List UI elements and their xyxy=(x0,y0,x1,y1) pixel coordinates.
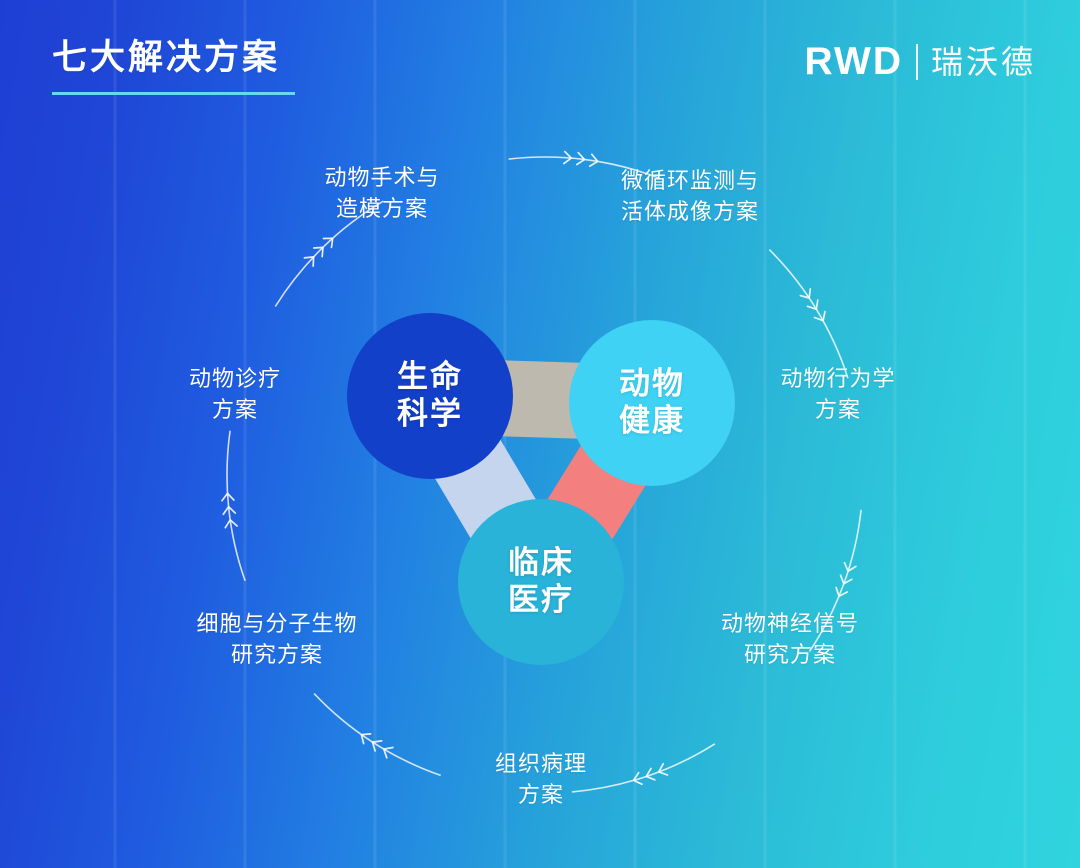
ring-label-line2: 研究方案 xyxy=(147,639,407,670)
ring-label-line1: 动物手术与 xyxy=(252,162,512,193)
cycle-diagram: 生命 科学动物 健康临床 医疗动物手术与造模方案微循环监测与活体成像方案动物行为… xyxy=(0,0,1080,868)
slide-root: 七大解决方案 RWD 瑞沃德 生命 科学动物 健康临床 医疗动物手术与造模方案微… xyxy=(0,0,1080,868)
ring-label-line1: 动物诊疗 xyxy=(105,363,365,394)
ring-label-line2: 方案 xyxy=(411,779,671,810)
ring-label-animal-surgery[interactable]: 动物手术与造模方案 xyxy=(252,162,512,224)
ring-label-microcirculation[interactable]: 微循环监测与活体成像方案 xyxy=(560,165,820,227)
ring-label-histopathology[interactable]: 组织病理方案 xyxy=(411,748,671,810)
center-nodes-layer xyxy=(0,0,1080,868)
ring-label-line1: 动物行为学 xyxy=(708,363,968,394)
ring-label-line2: 研究方案 xyxy=(660,639,920,670)
ring-label-animal-diagnosis[interactable]: 动物诊疗方案 xyxy=(105,363,365,425)
ring-label-line1: 动物神经信号 xyxy=(660,608,920,639)
ring-label-line2: 方案 xyxy=(105,394,365,425)
ring-label-neural-signal[interactable]: 动物神经信号研究方案 xyxy=(660,608,920,670)
ring-label-animal-behavior[interactable]: 动物行为学方案 xyxy=(708,363,968,425)
ring-label-line2: 造模方案 xyxy=(252,193,512,224)
ring-label-line1: 微循环监测与 xyxy=(560,165,820,196)
node-clinical-med[interactable] xyxy=(458,499,624,665)
ring-label-line1: 细胞与分子生物 xyxy=(147,608,407,639)
ring-label-line2: 方案 xyxy=(708,394,968,425)
ring-label-line1: 组织病理 xyxy=(411,748,671,779)
node-life-science[interactable] xyxy=(347,313,513,479)
ring-label-cell-molecular[interactable]: 细胞与分子生物研究方案 xyxy=(147,608,407,670)
ring-label-line2: 活体成像方案 xyxy=(560,196,820,227)
